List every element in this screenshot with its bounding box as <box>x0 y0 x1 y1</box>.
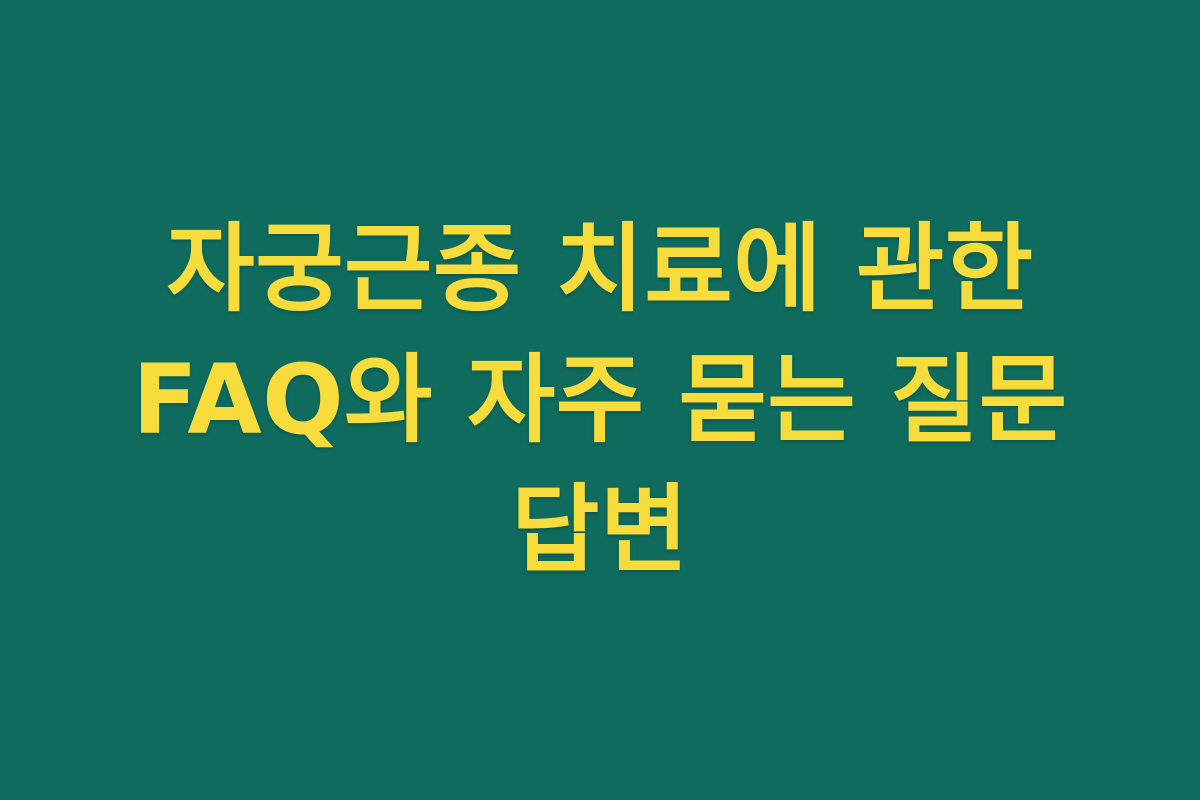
headline-block: 자궁근종 치료에 관한 FAQ와 자주 묻는 질문 답변 <box>0 204 1200 596</box>
banner-container: 자궁근종 치료에 관한 FAQ와 자주 묻는 질문 답변 <box>0 0 1200 800</box>
banner-headline: 자궁근종 치료에 관한 FAQ와 자주 묻는 질문 답변 <box>90 204 1110 596</box>
